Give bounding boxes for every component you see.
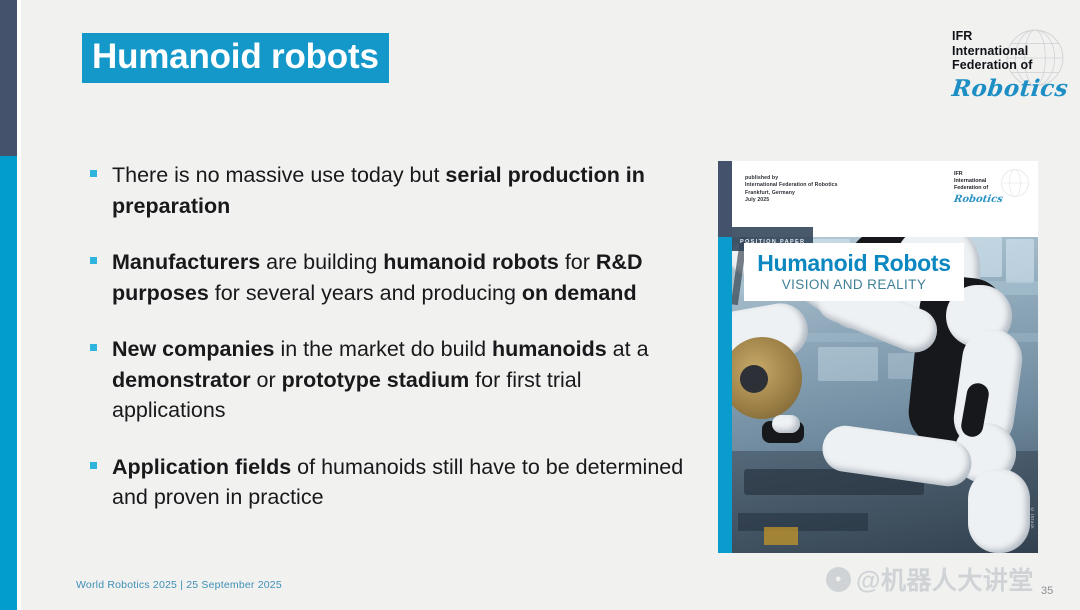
watermark-text: @机器人大讲堂 [856,561,1034,597]
cover-edge-cyan-bar [718,237,732,553]
left-edge-divider [17,0,21,610]
cover-ifr-logo: IFR International Federation of Robotics [954,171,1026,205]
photo-background-window [818,347,878,381]
slide-title-highlight: Humanoid robots [82,33,389,83]
ifr-logo-script: Robotics [951,75,1070,102]
ifr-logo-line2: International [952,44,1032,59]
watermark: ● @机器人大讲堂 [826,561,1034,597]
cover-date: July 2025 [745,197,838,204]
cover-city: Frankfurt, Germany [745,190,838,197]
cover-title: Humanoid Robots [744,251,964,276]
cover-photo-credit: © iStock [1030,507,1035,529]
ifr-logo-text: IFR International Federation of [952,29,1032,73]
page-title: Humanoid robots [92,37,379,77]
page-number: 35 [1041,585,1053,597]
left-edge-navy-bar [0,0,17,156]
cover-publisher-block: published by International Federation of… [745,175,838,205]
cover-publisher: International Federation of Robotics [745,182,838,189]
bullet-square-icon [90,257,97,264]
bullet-text: Manufacturers are building humanoid robo… [112,247,694,308]
robot-hip [968,469,1030,553]
bullet-square-icon [90,462,97,469]
photo-background-window [1006,239,1034,283]
cover-subtitle: VISION AND REALITY [744,277,964,292]
robot-finger [772,415,800,433]
list-item: Application fields of humanoids still ha… [88,452,694,513]
workpiece-disc-core [740,365,768,393]
photo-foreground-machinery [738,513,868,531]
bullet-square-icon [90,170,97,177]
list-item: There is no massive use today but serial… [88,160,694,221]
cover-logo-script: Robotics [953,194,1027,205]
ifr-logo-line1: IFR [952,29,1032,44]
bullet-text: There is no massive use today but serial… [112,160,694,221]
baidu-paw-icon: ● [826,567,851,592]
list-item: New companies in the market do build hum… [88,334,694,426]
cover-title-box: Humanoid Robots VISION AND REALITY [744,243,964,301]
slide-canvas: Humanoid robots IFR International Federa… [0,0,1080,610]
position-paper-cover-image: published by International Federation of… [718,161,1038,553]
left-edge-cyan-bar [0,156,17,610]
photo-foreground-machinery [764,527,798,545]
ifr-logo-line3: Federation of [952,58,1032,73]
bullet-square-icon [90,344,97,351]
bullet-list: There is no massive use today but serial… [88,160,694,513]
ifr-logo: IFR International Federation of Robotics [952,25,1072,107]
list-item: Manufacturers are building humanoid robo… [88,247,694,308]
cover-edge-navy-bar [718,161,732,237]
cover-published-by: published by [745,175,838,182]
bullet-text: New companies in the market do build hum… [112,334,694,426]
footer-text: World Robotics 2025 | 25 September 2025 [76,579,282,591]
bullet-text: Application fields of humanoids still ha… [112,452,694,513]
